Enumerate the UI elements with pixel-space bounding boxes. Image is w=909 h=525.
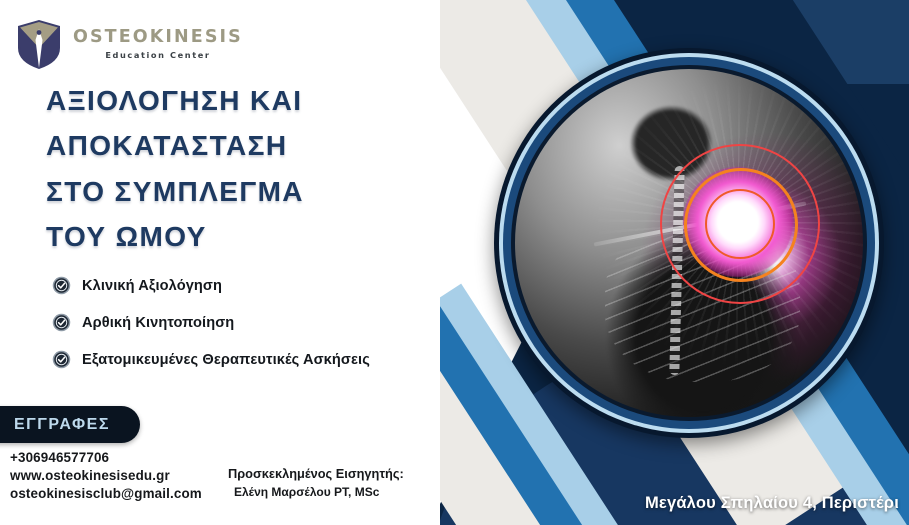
poster-canvas: Μεγάλου Σπηλαίου 4, Περιστέρι OSTEOKINES…: [0, 0, 909, 525]
feature-list: Κλινική Αξιολόγηση Αρθική Κινητοποίηση Ε…: [52, 276, 370, 369]
venue-address: Μεγάλου Σπηλαίου 4, Περιστέρι: [645, 494, 899, 513]
contact-info: +306946577706 www.osteokinesisedu.gr ost…: [10, 450, 202, 501]
speaker-block: Προσκεκλημένος Εισηγητής: Ελένη Μαρσέλου…: [228, 466, 404, 499]
list-item: Κλινική Αξιολόγηση: [52, 276, 370, 295]
headline-line-3: ΣΤΟ ΣΥΜΠΛΕΓΜΑ: [46, 169, 446, 214]
anatomy-photo-circle: [494, 48, 884, 438]
list-item: Εξατομικευμένες Θεραπευτικές Ασκήσεις: [52, 350, 370, 369]
feature-label: Εξατομικευμένες Θεραπευτικές Ασκήσεις: [82, 352, 370, 368]
check-circle-icon: [52, 313, 71, 332]
contact-website[interactable]: www.osteokinesisedu.gr: [10, 468, 202, 483]
feature-label: Κλινική Αξιολόγηση: [82, 278, 222, 294]
headline-line-1: ΑΞΙΟΛΟΓΗΣΗ ΚΑΙ: [46, 78, 446, 123]
check-circle-icon: [52, 276, 71, 295]
headline-line-2: ΑΠΟΚΑΤΑΣΤΑΣΗ: [46, 123, 446, 168]
brand-name: OSTEOKINESIS: [73, 29, 243, 47]
anatomy-shoulder-xray-image: [515, 69, 863, 417]
brand-logo[interactable]: OSTEOKINESIS Education Center: [14, 18, 243, 70]
artwork-panel: Μεγάλου Σπηλαίου 4, Περιστέρι: [440, 0, 909, 525]
page-title: ΑΞΙΟΛΟΓΗΣΗ ΚΑΙ ΑΠΟΚΑΤΑΣΤΑΣΗ ΣΤΟ ΣΥΜΠΛΕΓΜ…: [46, 78, 446, 259]
speaker-title: Προσκεκλημένος Εισηγητής:: [228, 466, 404, 481]
contact-phone[interactable]: +306946577706: [10, 450, 202, 465]
check-circle-icon: [52, 350, 71, 369]
brand-subtitle: Education Center: [73, 51, 243, 59]
shield-pen-logo-icon: [14, 18, 64, 70]
brand-wordmark: OSTEOKINESIS Education Center: [73, 29, 243, 59]
headline-line-4: ΤΟΥ ΩΜΟΥ: [46, 214, 446, 259]
contact-email[interactable]: osteokinesisclub@gmail.com: [10, 486, 202, 501]
list-item: Αρθική Κινητοποίηση: [52, 313, 370, 332]
speaker-name: Ελένη Μαρσέλου PT, MSc: [228, 485, 404, 499]
highlight-ring-inner-icon: [705, 189, 775, 259]
feature-label: Αρθική Κινητοποίηση: [82, 315, 234, 331]
registrations-button[interactable]: ΕΓΓΡΑΦΕΣ: [0, 406, 140, 443]
registrations-label: ΕΓΓΡΑΦΕΣ: [14, 416, 110, 434]
